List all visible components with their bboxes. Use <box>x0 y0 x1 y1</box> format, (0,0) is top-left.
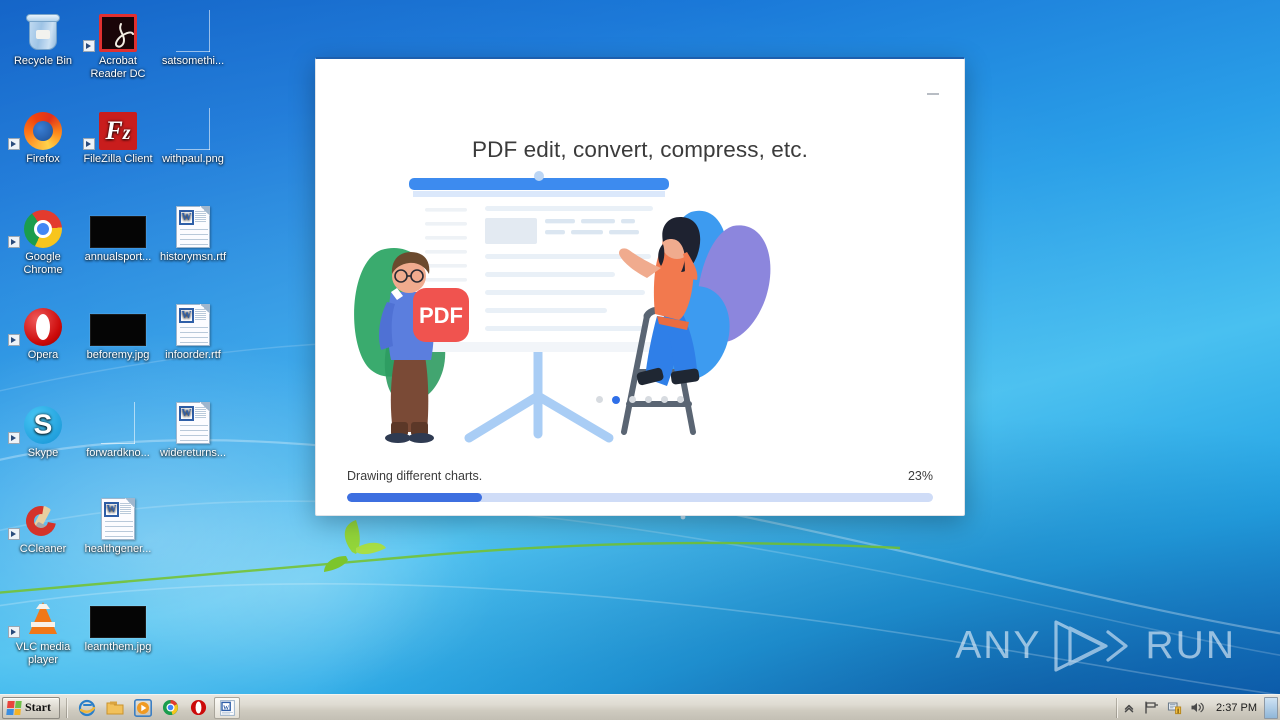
carousel-dot-2[interactable] <box>612 396 620 404</box>
desktop-icon-label: historymsn.rtf <box>156 251 230 264</box>
word-document-icon: W <box>156 302 230 346</box>
desktop-icon-label: widereturns... <box>156 447 230 460</box>
acrobat-reader-icon <box>81 8 155 52</box>
desktop-icon-infoorder-rtf[interactable]: Winfoorder.rtf <box>156 302 230 362</box>
action-center-icon[interactable] <box>1166 699 1183 716</box>
desktop-icon-vlc-media-player[interactable]: VLC media player <box>6 594 80 666</box>
carousel-dots[interactable] <box>316 396 964 404</box>
desktop-icon-label: satsomethi... <box>156 55 230 68</box>
carousel-dot-5[interactable] <box>661 396 668 403</box>
start-button[interactable]: Start <box>2 697 60 719</box>
anyrun-play-logo-icon <box>1048 618 1140 674</box>
carousel-dot-1[interactable] <box>596 396 603 403</box>
desktop-icon-label: forwardkno... <box>81 447 155 460</box>
filezilla-icon: Fz <box>81 106 155 150</box>
taskbar: Start W <box>0 694 1280 720</box>
desktop-icon-satsomethi[interactable]: satsomethi... <box>156 8 230 68</box>
progress-bar-track <box>347 493 933 502</box>
watermark-text-left: ANY <box>955 624 1041 668</box>
carousel-dot-3[interactable] <box>629 396 636 403</box>
installer-illustration: PDF <box>341 164 941 494</box>
quick-launch-bar <box>77 698 208 717</box>
start-button-label: Start <box>25 700 51 715</box>
desktop-icon-google-chrome[interactable]: Google Chrome <box>6 204 80 276</box>
shortcut-overlay-icon <box>8 334 20 346</box>
desktop-icon-forwardkno[interactable]: forwardkno... <box>81 400 155 460</box>
progress-bar-fill <box>347 493 482 502</box>
image-file-icon <box>81 594 155 638</box>
svg-text:PDF: PDF <box>419 303 463 328</box>
desktop-icon-label: Skype <box>6 447 80 460</box>
desktop-icon-label: Recycle Bin <box>6 55 80 68</box>
shortcut-overlay-icon <box>83 138 95 150</box>
blank-file-icon <box>156 8 230 52</box>
network-icon[interactable] <box>1143 699 1160 716</box>
recycle-bin-icon <box>6 8 80 52</box>
desktop-icon-historymsn-rtf[interactable]: Whistorymsn.rtf <box>156 204 230 264</box>
status-row: Drawing different charts. 23% <box>347 469 933 483</box>
illustration-svg: PDF <box>341 164 941 494</box>
carousel-dot-6[interactable] <box>677 396 684 403</box>
word-document-icon: W <box>81 496 155 540</box>
image-file-icon <box>81 204 155 248</box>
desktop-icon-ccleaner[interactable]: CCleaner <box>6 496 80 556</box>
show-desktop-button[interactable] <box>1264 697 1278 719</box>
desktop-icon-healthgener[interactable]: Whealthgener... <box>81 496 155 556</box>
opera-icon[interactable] <box>189 698 208 717</box>
show-hidden-icons-chevron-icon[interactable] <box>1120 699 1137 716</box>
image-file-icon <box>156 106 230 150</box>
desktop-icon-label: Firefox <box>6 153 80 166</box>
carousel-dot-4[interactable] <box>645 396 652 403</box>
desktop-icon-label: annualsport... <box>81 251 155 264</box>
desktop-icon-label: FileZilla Client <box>81 153 155 166</box>
desktop-icon-opera[interactable]: Opera <box>6 302 80 362</box>
desktop-icon-label: Google Chrome <box>6 251 80 276</box>
desktop-icon-filezilla-client[interactable]: FzFileZilla Client <box>81 106 155 166</box>
word-document-icon: W <box>156 400 230 444</box>
taskbar-divider <box>66 698 67 718</box>
window-top-accent <box>316 57 964 59</box>
desktop-screen: Recycle Bin Acrobat Reader DCsatsomethi.… <box>0 0 1280 720</box>
desktop-icon-label: Opera <box>6 349 80 362</box>
desktop-icon-acrobat-reader-dc[interactable]: Acrobat Reader DC <box>81 8 155 80</box>
internet-explorer-icon[interactable] <box>77 698 96 717</box>
volume-icon[interactable] <box>1189 699 1206 716</box>
ccleaner-icon <box>6 496 80 540</box>
google-chrome-icon[interactable] <box>161 698 180 717</box>
desktop-icon-withpaul-png[interactable]: withpaul.png <box>156 106 230 166</box>
installer-title: PDF edit, convert, compress, etc. <box>316 137 964 163</box>
whiteboard-stand <box>469 347 609 438</box>
shortcut-overlay-icon <box>83 40 95 52</box>
desktop-icon-skype[interactable]: SSkype <box>6 400 80 460</box>
system-tray: 2:37 PM <box>1116 695 1280 720</box>
vlc-media-player-icon <box>6 594 80 638</box>
pdf-badge: PDF <box>413 288 469 342</box>
taskbar-clock[interactable]: 2:37 PM <box>1209 702 1264 714</box>
desktop-icon-label: Acrobat Reader DC <box>81 55 155 80</box>
desktop-icon-firefox[interactable]: Firefox <box>6 106 80 166</box>
skype-icon: S <box>6 400 80 444</box>
shortcut-overlay-icon <box>8 236 20 248</box>
image-file-icon <box>81 302 155 346</box>
anyrun-watermark: ANY RUN <box>955 618 1236 674</box>
desktop-icon-recycle-bin[interactable]: Recycle Bin <box>6 8 80 68</box>
desktop-icon-label: healthgener... <box>81 543 155 556</box>
svg-text:W: W <box>223 704 230 711</box>
minimize-button[interactable] <box>920 81 946 107</box>
status-text: Drawing different charts. <box>347 469 482 483</box>
desktop-icon-label: VLC media player <box>6 641 80 666</box>
windows-logo-icon <box>6 701 21 715</box>
desktop-icon-label: beforemy.jpg <box>81 349 155 362</box>
firefox-icon <box>6 106 80 150</box>
google-chrome-icon <box>6 204 80 248</box>
desktop-icon-learnthem-jpg[interactable]: learnthem.jpg <box>81 594 155 654</box>
installer-window: PDF edit, convert, compress, etc. <box>315 58 965 516</box>
desktop-icon-widereturns[interactable]: Wwidereturns... <box>156 400 230 460</box>
shortcut-overlay-icon <box>8 626 20 638</box>
shortcut-overlay-icon <box>8 138 20 150</box>
taskbar-window-button-word[interactable]: W <box>214 697 240 719</box>
desktop-icon-beforemy-jpg[interactable]: beforemy.jpg <box>81 302 155 362</box>
blank-file-icon <box>81 400 155 444</box>
desktop-icon-annualsport[interactable]: annualsport... <box>81 204 155 264</box>
word-document-icon: W <box>156 204 230 248</box>
desktop-icon-label: infoorder.rtf <box>156 349 230 362</box>
watermark-text-right: RUN <box>1146 624 1237 668</box>
opera-icon <box>6 302 80 346</box>
progress-percent-label: 23% <box>908 469 933 483</box>
desktop-icon-label: learnthem.jpg <box>81 641 155 654</box>
shortcut-overlay-icon <box>8 432 20 444</box>
media-player-icon[interactable] <box>133 698 152 717</box>
shortcut-overlay-icon <box>8 528 20 540</box>
windows-explorer-icon[interactable] <box>105 698 124 717</box>
desktop-icon-label: CCleaner <box>6 543 80 556</box>
desktop-icon-label: withpaul.png <box>156 153 230 166</box>
tray-divider <box>1116 698 1117 718</box>
